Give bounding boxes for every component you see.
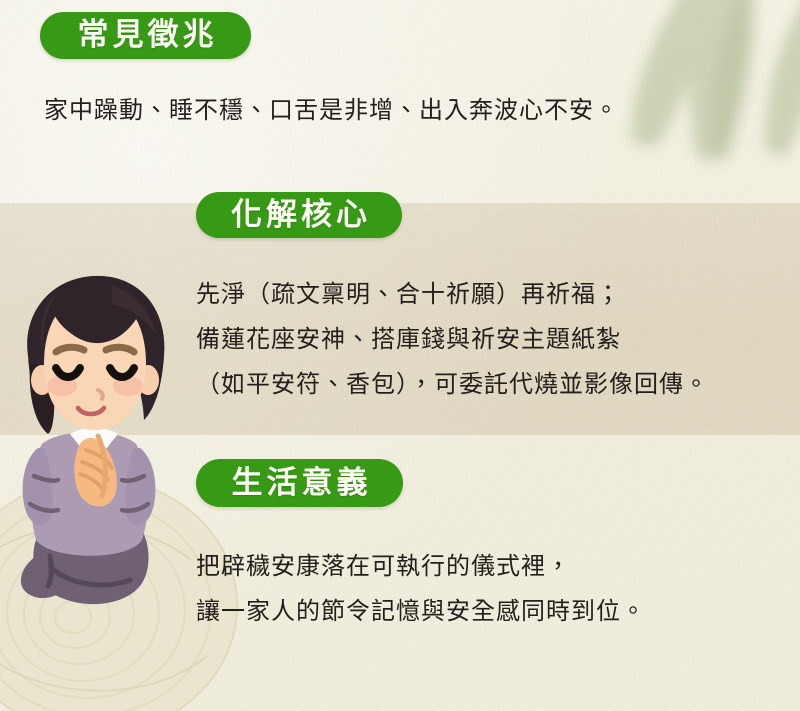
badge-label: 常見徵兆 (74, 20, 218, 51)
badge-label: 化解核心 (227, 200, 371, 231)
paragraph-line: 家中躁動、睡不穩、口舌是非增、出入奔波心不安。 (44, 88, 619, 133)
paragraph-core-resolution: 先淨（疏文稟明、合十祈願）再祈福； 備蓮花座安神、搭庫錢與祈安主題紙紮 （如平安… (196, 272, 709, 407)
paragraph-line: 先淨（疏文稟明、合十祈願）再祈福； (196, 272, 709, 317)
paragraph-life-meaning: 把辟穢安康落在可執行的儀式裡， 讓一家人的節令記憶與安全感同時到位。 (196, 544, 646, 634)
paragraph-line: 讓一家人的節令記憶與安全感同時到位。 (196, 589, 646, 634)
poster-canvas: 常見徵兆 家中躁動、睡不穩、口舌是非增、出入奔波心不安。 化解核心 先淨（疏文稟… (0, 0, 800, 711)
badge-label: 生活意義 (228, 468, 372, 499)
badge-common-signs: 常見徵兆 (40, 12, 251, 59)
badge-life-meaning: 生活意義 (196, 459, 403, 507)
paragraph-common-signs: 家中躁動、睡不穩、口舌是非增、出入奔波心不安。 (44, 88, 619, 133)
paragraph-line: 備蓮花座安神、搭庫錢與祈安主題紙紮 (196, 317, 709, 362)
paragraph-line: （如平安符、香包），可委託代燒並影像回傳。 (196, 362, 709, 407)
paragraph-line: 把辟穢安康落在可執行的儀式裡， (196, 544, 646, 589)
badge-core-resolution: 化解核心 (196, 192, 402, 238)
